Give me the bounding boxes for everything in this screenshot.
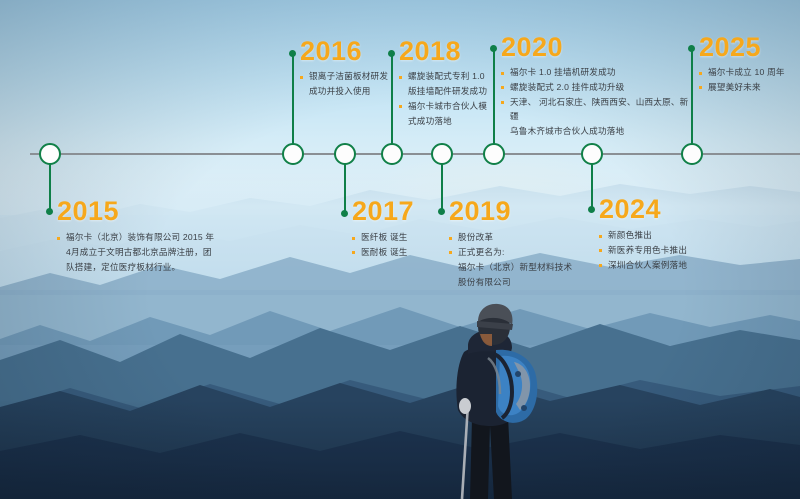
milestone-bullets-2020: 福尔卡 1.0 挂墙机研发成功 螺旋装配式 2.0 挂件成功升级 天津、 河北石…: [501, 66, 691, 139]
list-item: 螺旋装配式 2.0 挂件成功升级: [501, 81, 691, 95]
list-item: 展望美好未来: [699, 81, 799, 95]
milestone-entry-2015: 2015 福尔卡（北京）装饰有限公司 2015 年 4月成立于文明古都北京品牌注…: [57, 198, 242, 276]
list-item: 螺旋装配式专利 1.0: [399, 70, 499, 84]
list-item: 银离子洁菌板材研发: [300, 70, 395, 84]
milestone-entry-2017: 2017 医纤板 诞生 医耐板 诞生: [352, 198, 442, 261]
timeline-node-2018[interactable]: [381, 143, 403, 165]
timeline-node-2015[interactable]: [39, 143, 61, 165]
list-item: 天津、 河北石家庄、陕西西安、山西太原、新疆: [501, 96, 691, 124]
list-item: 医耐板 诞生: [352, 246, 442, 260]
milestone-bullets-2019: 股份改革 正式更名为: 福尔卡（北京）新型材料技术 股份有限公司: [449, 231, 579, 290]
milestone-bullets-2015: 福尔卡（北京）装饰有限公司 2015 年 4月成立于文明古都北京品牌注册，团 队…: [57, 231, 242, 275]
hiker-figure: [420, 300, 560, 499]
list-item: 版挂墙配件研发成功: [399, 85, 499, 99]
list-item: 成功并投入使用: [300, 85, 395, 99]
timeline-stem-2016: [292, 55, 295, 145]
timeline-stem-2017: [344, 163, 347, 213]
milestone-year-2018: 2018: [399, 38, 499, 65]
list-item: 正式更名为:: [449, 246, 579, 260]
milestone-entry-2024: 2024 新颜色推出 新医养专用色卡推出 深圳合伙人案例落地: [599, 196, 719, 274]
timeline-stem-2015: [49, 163, 52, 211]
milestone-entry-2019: 2019 股份改革 正式更名为: 福尔卡（北京）新型材料技术 股份有限公司: [449, 198, 579, 291]
timeline-node-2019[interactable]: [431, 143, 453, 165]
timeline-node-2024[interactable]: [581, 143, 603, 165]
timeline-stem-2024: [591, 163, 594, 209]
timeline-node-2025[interactable]: [681, 143, 703, 165]
timeline-stem-2025: [691, 50, 694, 145]
milestone-year-2025: 2025: [699, 34, 799, 61]
milestone-entry-2025: 2025 福尔卡成立 10 周年 展望美好未来: [699, 34, 799, 96]
list-item: 新医养专用色卡推出: [599, 244, 719, 258]
timeline-node-2020[interactable]: [483, 143, 505, 165]
list-item: 式成功落地: [399, 115, 499, 129]
list-item: 医纤板 诞生: [352, 231, 442, 245]
list-item: 乌鲁木齐城市合伙人成功落地: [501, 125, 691, 139]
list-item: 福尔卡城市合伙人模: [399, 100, 499, 114]
list-item: 队搭建，定位医疗板材行业。: [57, 261, 242, 275]
list-item: 股份改革: [449, 231, 579, 245]
list-item: 福尔卡成立 10 周年: [699, 66, 799, 80]
timeline-node-2016[interactable]: [282, 143, 304, 165]
list-item: 福尔卡 1.0 挂墙机研发成功: [501, 66, 691, 80]
milestone-bullets-2016: 银离子洁菌板材研发 成功并投入使用: [300, 70, 395, 99]
list-item: 新颜色推出: [599, 229, 719, 243]
list-item: 深圳合伙人案例落地: [599, 259, 719, 273]
milestone-year-2017: 2017: [352, 198, 442, 225]
milestone-bullets-2025: 福尔卡成立 10 周年 展望美好未来: [699, 66, 799, 95]
milestone-year-2019: 2019: [449, 198, 579, 225]
list-item: 股份有限公司: [449, 276, 579, 290]
milestone-year-2015: 2015: [57, 198, 242, 225]
milestone-entry-2020: 2020 福尔卡 1.0 挂墙机研发成功 螺旋装配式 2.0 挂件成功升级 天津…: [501, 34, 691, 140]
milestone-year-2020: 2020: [501, 34, 691, 61]
list-item: 福尔卡（北京）新型材料技术: [449, 261, 579, 275]
milestone-bullets-2018: 螺旋装配式专利 1.0 版挂墙配件研发成功 福尔卡城市合伙人模 式成功落地: [399, 70, 499, 129]
list-item: 4月成立于文明古都北京品牌注册，团: [57, 246, 242, 260]
timeline-infographic: 2015 福尔卡（北京）装饰有限公司 2015 年 4月成立于文明古都北京品牌注…: [0, 0, 800, 499]
timeline-node-2017[interactable]: [334, 143, 356, 165]
milestone-entry-2016: 2016 银离子洁菌板材研发 成功并投入使用: [300, 38, 395, 100]
list-item: 福尔卡（北京）装饰有限公司 2015 年: [57, 231, 242, 245]
milestone-year-2016: 2016: [300, 38, 395, 65]
milestone-year-2024: 2024: [599, 196, 719, 223]
milestone-bullets-2024: 新颜色推出 新医养专用色卡推出 深圳合伙人案例落地: [599, 229, 719, 273]
milestone-bullets-2017: 医纤板 诞生 医耐板 诞生: [352, 231, 442, 260]
milestone-entry-2018: 2018 螺旋装配式专利 1.0 版挂墙配件研发成功 福尔卡城市合伙人模 式成功…: [399, 38, 499, 130]
